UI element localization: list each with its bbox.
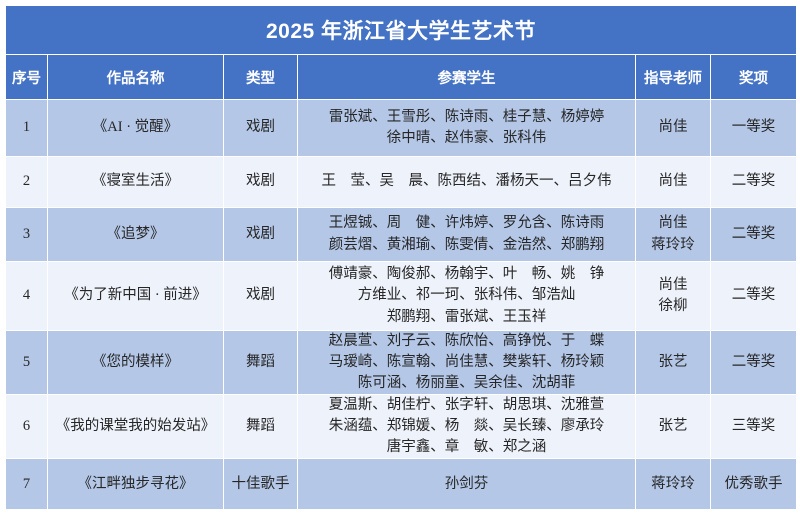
table-row[interactable]: 5 《您的模样》 舞蹈 赵晨萱、刘子云、陈欣怡、高铮悦、于 蝶 马瑷崎、陈宣翰、… [6, 331, 797, 395]
table-row[interactable]: 4 《为了新中国 · 前进》 戏剧 傅靖豪、陶俊郝、杨翰宇、叶 畅、姚 铮 方维… [6, 262, 797, 331]
cell-students: 王煜铖、周 健、许炜婷、罗允含、陈诗雨 颜芸熠、黄湘瑜、陈雯倩、金浩然、郑鹏翔 [298, 208, 636, 262]
cell-index: 1 [6, 100, 48, 157]
cell-index: 6 [6, 395, 48, 459]
cell-index: 4 [6, 262, 48, 331]
cell-students: 赵晨萱、刘子云、陈欣怡、高铮悦、于 蝶 马瑷崎、陈宣翰、尚佳慧、樊紫轩、杨玲颖 … [298, 331, 636, 395]
cell-work-name: 《我的课堂我的始发站》 [48, 395, 224, 459]
cell-work-name: 《寝室生活》 [48, 157, 224, 208]
cell-type: 十佳歌手 [224, 459, 298, 510]
cell-type: 戏剧 [224, 208, 298, 262]
cell-students: 王 莹、吴 晨、陈西结、潘杨天一、吕夕伟 [298, 157, 636, 208]
cell-teacher: 尚佳 [636, 100, 711, 157]
cell-award: 二等奖 [711, 331, 797, 395]
art-festival-results-table: 2025 年浙江省大学生艺术节 序号 作品名称 类型 参赛学生 指导老师 奖项 … [5, 5, 797, 510]
cell-type: 戏剧 [224, 157, 298, 208]
cell-teacher: 蒋玲玲 [636, 459, 711, 510]
cell-index: 2 [6, 157, 48, 208]
cell-teacher: 张艺 [636, 331, 711, 395]
cell-type: 戏剧 [224, 262, 298, 331]
table-row[interactable]: 2 《寝室生活》 戏剧 王 莹、吴 晨、陈西结、潘杨天一、吕夕伟 尚佳 二等奖 [6, 157, 797, 208]
cell-award: 二等奖 [711, 208, 797, 262]
table-body: 1 《AI · 觉醒》 戏剧 雷张斌、王雪彤、陈诗雨、桂子慧、杨婷婷 徐中晴、赵… [6, 100, 797, 510]
column-header-work-name[interactable]: 作品名称 [48, 55, 224, 100]
cell-type: 舞蹈 [224, 395, 298, 459]
cell-award: 三等奖 [711, 395, 797, 459]
column-header-index[interactable]: 序号 [6, 55, 48, 100]
column-header-students[interactable]: 参赛学生 [298, 55, 636, 100]
column-header-row: 序号 作品名称 类型 参赛学生 指导老师 奖项 [6, 55, 797, 100]
cell-type: 舞蹈 [224, 331, 298, 395]
column-header-teacher[interactable]: 指导老师 [636, 55, 711, 100]
cell-teacher: 尚佳 蒋玲玲 [636, 208, 711, 262]
cell-index: 5 [6, 331, 48, 395]
cell-students: 傅靖豪、陶俊郝、杨翰宇、叶 畅、姚 铮 方维业、祁一珂、张科伟、邹浩灿 郑鹏翔、… [298, 262, 636, 331]
cell-award: 优秀歌手 [711, 459, 797, 510]
cell-index: 7 [6, 459, 48, 510]
page-root: 2025 年浙江省大学生艺术节 序号 作品名称 类型 参赛学生 指导老师 奖项 … [0, 0, 800, 520]
cell-students: 夏温斯、胡佳柠、张字轩、胡思琪、沈雅萱 朱涵蕴、郑锦媛、杨 燚、吴长臻、廖承玲 … [298, 395, 636, 459]
column-header-type[interactable]: 类型 [224, 55, 298, 100]
cell-award: 一等奖 [711, 100, 797, 157]
title-row: 2025 年浙江省大学生艺术节 [6, 6, 797, 55]
table-row[interactable]: 7 《江畔独步寻花》 十佳歌手 孙剑芬 蒋玲玲 优秀歌手 [6, 459, 797, 510]
cell-teacher: 尚佳 徐柳 [636, 262, 711, 331]
cell-teacher: 张艺 [636, 395, 711, 459]
cell-work-name: 《为了新中国 · 前进》 [48, 262, 224, 331]
cell-students: 孙剑芬 [298, 459, 636, 510]
cell-work-name: 《AI · 觉醒》 [48, 100, 224, 157]
table-row[interactable]: 3 《追梦》 戏剧 王煜铖、周 健、许炜婷、罗允含、陈诗雨 颜芸熠、黄湘瑜、陈雯… [6, 208, 797, 262]
table-row[interactable]: 6 《我的课堂我的始发站》 舞蹈 夏温斯、胡佳柠、张字轩、胡思琪、沈雅萱 朱涵蕴… [6, 395, 797, 459]
cell-type: 戏剧 [224, 100, 298, 157]
cell-work-name: 《追梦》 [48, 208, 224, 262]
cell-award: 二等奖 [711, 157, 797, 208]
table-row[interactable]: 1 《AI · 觉醒》 戏剧 雷张斌、王雪彤、陈诗雨、桂子慧、杨婷婷 徐中晴、赵… [6, 100, 797, 157]
cell-award: 二等奖 [711, 262, 797, 331]
cell-teacher: 尚佳 [636, 157, 711, 208]
table-head: 2025 年浙江省大学生艺术节 序号 作品名称 类型 参赛学生 指导老师 奖项 [6, 6, 797, 100]
cell-index: 3 [6, 208, 48, 262]
cell-students: 雷张斌、王雪彤、陈诗雨、桂子慧、杨婷婷 徐中晴、赵伟豪、张科伟 [298, 100, 636, 157]
cell-work-name: 《您的模样》 [48, 331, 224, 395]
cell-work-name: 《江畔独步寻花》 [48, 459, 224, 510]
column-header-award[interactable]: 奖项 [711, 55, 797, 100]
page-title: 2025 年浙江省大学生艺术节 [6, 6, 797, 55]
